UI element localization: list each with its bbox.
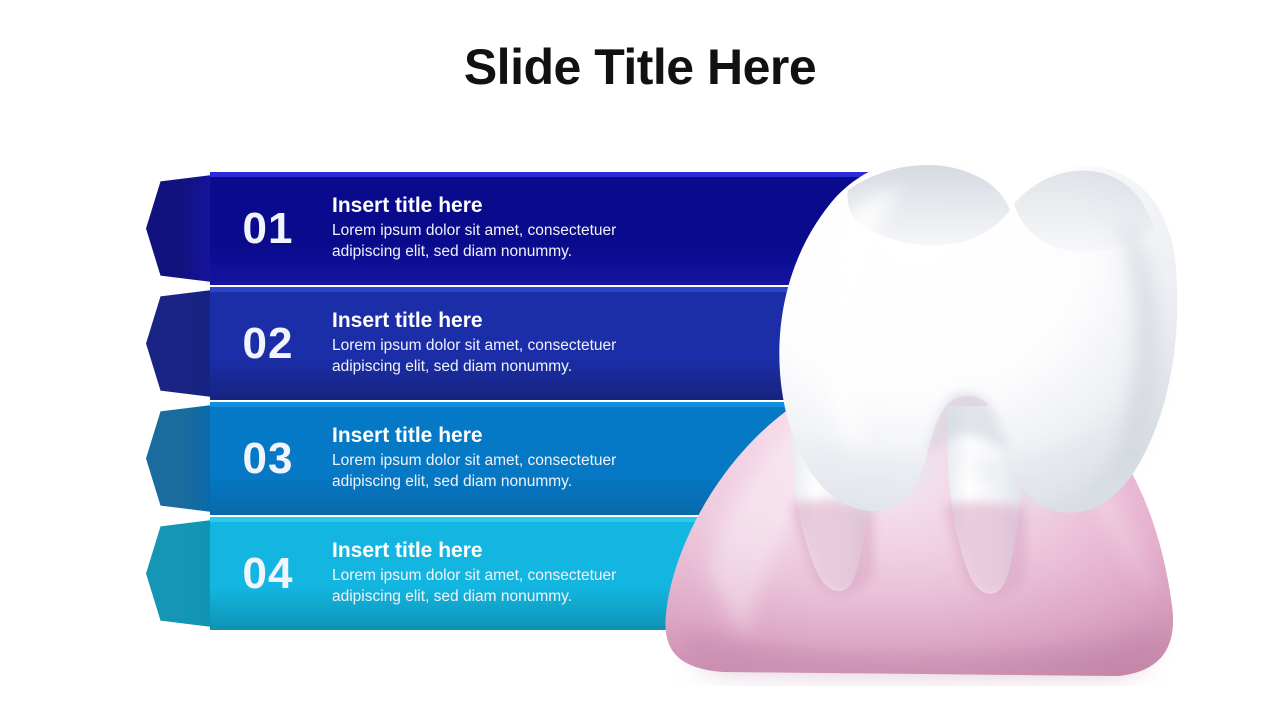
slide-canvas: Slide Title Here 01 Insert title here Lo… bbox=[0, 0, 1280, 720]
ribbon-tail-03 bbox=[146, 405, 212, 512]
ribbon-desc-01: Lorem ipsum dolor sit amet, consectetuer… bbox=[332, 221, 662, 263]
ribbon-tail-04 bbox=[146, 520, 212, 627]
ribbon-desc-02: Lorem ipsum dolor sit amet, consectetuer… bbox=[332, 336, 662, 378]
ribbon-tail-02 bbox=[146, 290, 212, 397]
tooth-illustration bbox=[648, 106, 1188, 686]
ribbon-desc-03: Lorem ipsum dolor sit amet, consectetuer… bbox=[332, 451, 662, 493]
ribbon-number-03: 03 bbox=[210, 437, 332, 481]
ribbon-tail-01 bbox=[146, 175, 212, 282]
tooth-crown bbox=[779, 158, 1177, 513]
ribbon-number-01: 01 bbox=[210, 207, 332, 251]
ribbon-number-02: 02 bbox=[210, 322, 332, 366]
ribbon-number-04: 04 bbox=[210, 552, 332, 596]
ribbon-desc-04: Lorem ipsum dolor sit amet, consectetuer… bbox=[332, 566, 662, 608]
